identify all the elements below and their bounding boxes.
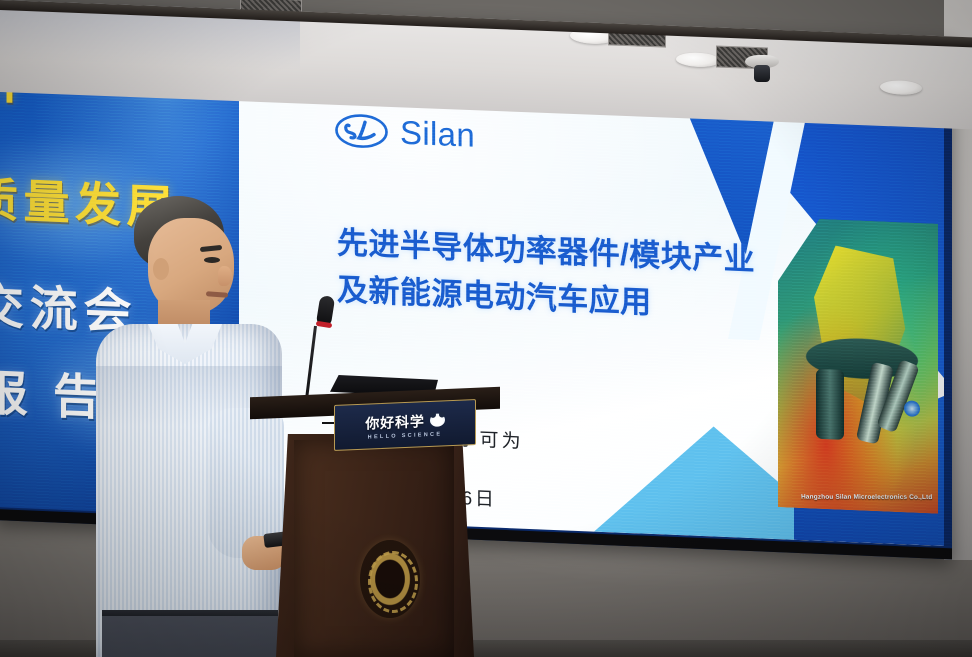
security-camera [745, 55, 779, 85]
presenter-nose [218, 266, 232, 286]
camera-body [754, 65, 770, 82]
presenter-eye [204, 257, 220, 263]
microphone-red-ring [316, 321, 333, 328]
podium-sign-main-row: 你好科学 [365, 410, 444, 433]
conference-stage-scene: 新 质量发展 交流会 报 告 Hangzhou Silan Mi [0, 0, 972, 657]
gold-spiral-emblem [360, 540, 420, 618]
podium-sign-title: 你好科学 [365, 411, 424, 433]
ceiling-light [880, 80, 922, 96]
ceiling-light [676, 52, 720, 68]
presenter-ear [153, 258, 169, 280]
podium: 你好科学 HELLO SCIENCE [250, 378, 500, 657]
panda-icon [430, 413, 445, 427]
podium-sign: 你好科学 HELLO SCIENCE [334, 399, 476, 451]
